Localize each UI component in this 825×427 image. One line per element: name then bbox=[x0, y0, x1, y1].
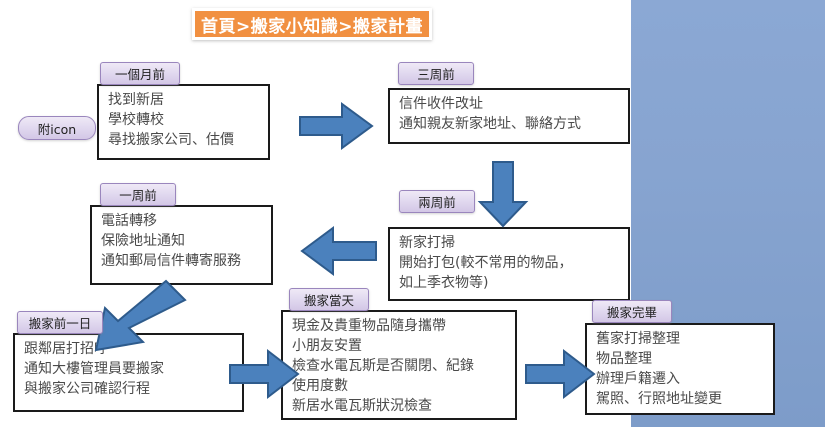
stage-tag-label: 一個月前 bbox=[115, 64, 165, 83]
arrow-three-weeks-to-two-weeks bbox=[477, 160, 529, 228]
stage-tag-label: 搬家前一日 bbox=[29, 313, 92, 332]
stage-box-one-week-before: 電話轉移 保險地址通知 通知郵局信件轉寄服務 bbox=[90, 205, 273, 285]
stage-line: 舊家打掃整理 bbox=[596, 330, 765, 350]
stage-tag-label: 搬家當天 bbox=[304, 290, 354, 309]
stage-line: 小朋友安置 bbox=[292, 337, 507, 357]
stage-box-moving-day: 現金及貴重物品隨身攜帶 小朋友安置 檢查水電瓦斯是否關閉、紀錄 使用度數 新居水… bbox=[281, 310, 517, 420]
stage-box-after-moving: 舊家打掃整理 物品整理 辦理戶籍遷入 駕照、行照地址變更 bbox=[585, 323, 775, 415]
attach-icon-note-label: 附icon bbox=[38, 119, 76, 138]
stage-line: 電話轉移 bbox=[101, 212, 263, 232]
stage-line: 學校轉校 bbox=[108, 111, 260, 131]
arrow-one-month-to-three-weeks bbox=[298, 101, 374, 151]
stage-line: 辦理戶籍遷入 bbox=[596, 370, 765, 390]
stage-tag-one-month-before[interactable]: 一個月前 bbox=[100, 62, 180, 85]
stage-box-two-weeks-before: 新家打掃 開始打包(較不常用的物品， 如上季衣物等) bbox=[388, 227, 630, 301]
stage-tag-moving-day[interactable]: 搬家當天 bbox=[289, 288, 369, 311]
stage-tag-label: 三周前 bbox=[417, 64, 455, 83]
stage-line: 找到新居 bbox=[108, 91, 260, 111]
stage-line: 新家打掃 bbox=[399, 234, 620, 254]
stage-tag-label: 兩周前 bbox=[418, 192, 456, 211]
stage-tag-label: 搬家完畢 bbox=[607, 302, 657, 321]
stage-line: 駕照、行照地址變更 bbox=[596, 390, 765, 410]
arrow-day-before-to-moving-day bbox=[228, 348, 300, 400]
stage-tag-two-weeks-before[interactable]: 兩周前 bbox=[399, 190, 475, 213]
arrow-moving-day-to-after-moving bbox=[524, 348, 596, 400]
stage-tag-three-weeks-before[interactable]: 三周前 bbox=[398, 62, 474, 85]
stage-line: 檢查水電瓦斯是否關閉、紀錄 bbox=[292, 357, 507, 377]
stage-line: 與搬家公司確認行程 bbox=[24, 380, 234, 400]
attach-icon-note[interactable]: 附icon bbox=[18, 116, 96, 140]
stage-line: 保險地址通知 bbox=[101, 232, 263, 252]
breadcrumb-banner: 首頁>搬家小知識>搬家計畫 bbox=[192, 8, 432, 40]
arrow-two-weeks-to-one-week bbox=[300, 225, 378, 277]
stage-box-one-month-before: 找到新居 學校轉校 尋找搬家公司、估價 bbox=[97, 84, 270, 160]
stage-line: 開始打包(較不常用的物品， bbox=[399, 254, 620, 274]
stage-tag-day-before-moving[interactable]: 搬家前一日 bbox=[17, 311, 103, 334]
stage-line: 通知大樓管理員要搬家 bbox=[24, 360, 234, 380]
stage-line: 物品整理 bbox=[596, 350, 765, 370]
stage-tag-one-week-before[interactable]: 一周前 bbox=[100, 183, 176, 206]
stage-line: 通知郵局信件轉寄服務 bbox=[101, 252, 263, 272]
stage-tag-label: 一周前 bbox=[119, 185, 157, 204]
stage-line: 現金及貴重物品隨身攜帶 bbox=[292, 317, 507, 337]
breadcrumb-text: 首頁>搬家小知識>搬家計畫 bbox=[201, 12, 423, 37]
slide-canvas: 首頁>搬家小知識>搬家計畫 附icon 一個月前 找到新居 學校轉校 尋找搬家公… bbox=[0, 0, 825, 427]
stage-tag-after-moving[interactable]: 搬家完畢 bbox=[592, 300, 672, 323]
stage-box-three-weeks-before: 信件收件改址 通知親友新家地址、聯絡方式 bbox=[388, 88, 630, 144]
stage-line: 新居水電瓦斯狀況檢查 bbox=[292, 397, 507, 417]
stage-line: 如上季衣物等) bbox=[399, 274, 620, 294]
stage-line: 尋找搬家公司、估價 bbox=[108, 131, 260, 151]
stage-line: 使用度數 bbox=[292, 377, 507, 397]
stage-line: 信件收件改址 bbox=[399, 95, 620, 115]
stage-line: 通知親友新家地址、聯絡方式 bbox=[399, 115, 620, 135]
